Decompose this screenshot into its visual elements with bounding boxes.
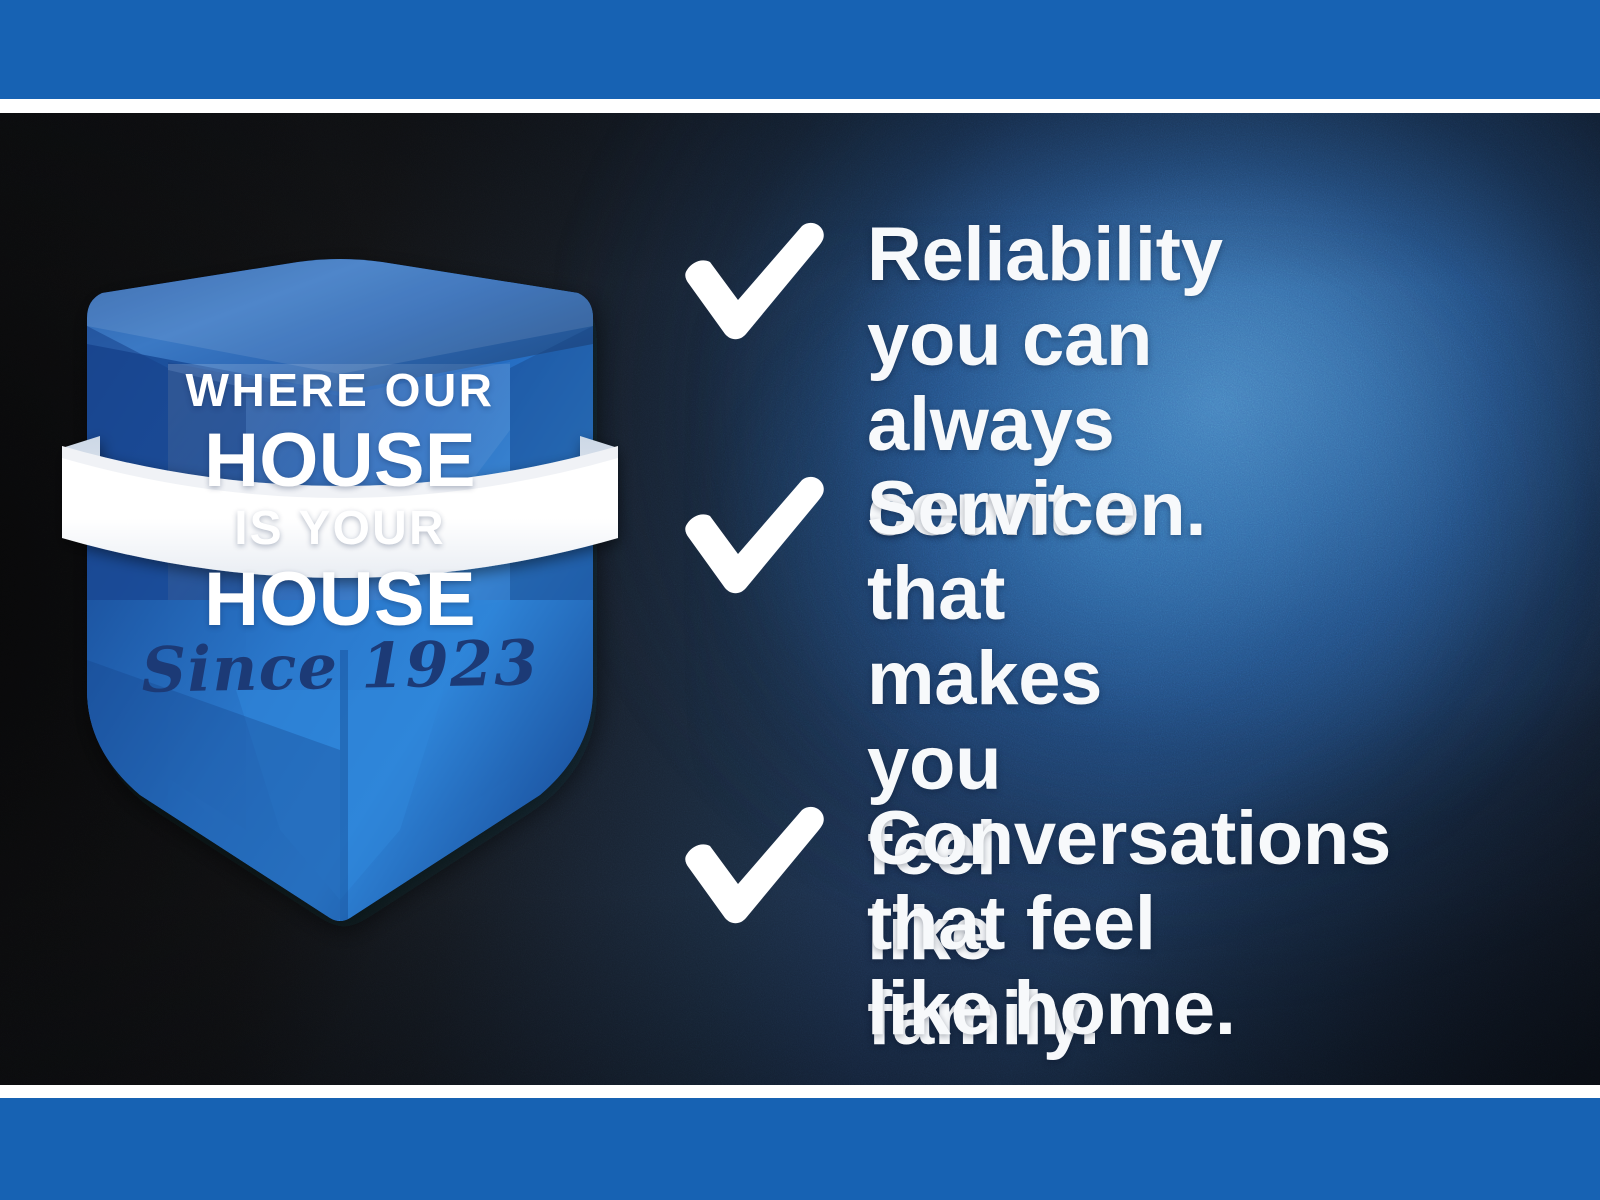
- bottom-brand-bar: [0, 1098, 1600, 1200]
- list-item-label: Conversations that feel like home.: [867, 796, 1391, 1051]
- check-icon: [680, 222, 826, 340]
- promo-graphic: WHERE OUR HOUSE IS YOUR HOUSE Since 1923…: [0, 0, 1600, 1200]
- check-icon: [680, 806, 826, 924]
- benefits-checklist: Reliability you can always count on. Ser…: [0, 0, 1600, 1200]
- check-icon: [680, 476, 826, 594]
